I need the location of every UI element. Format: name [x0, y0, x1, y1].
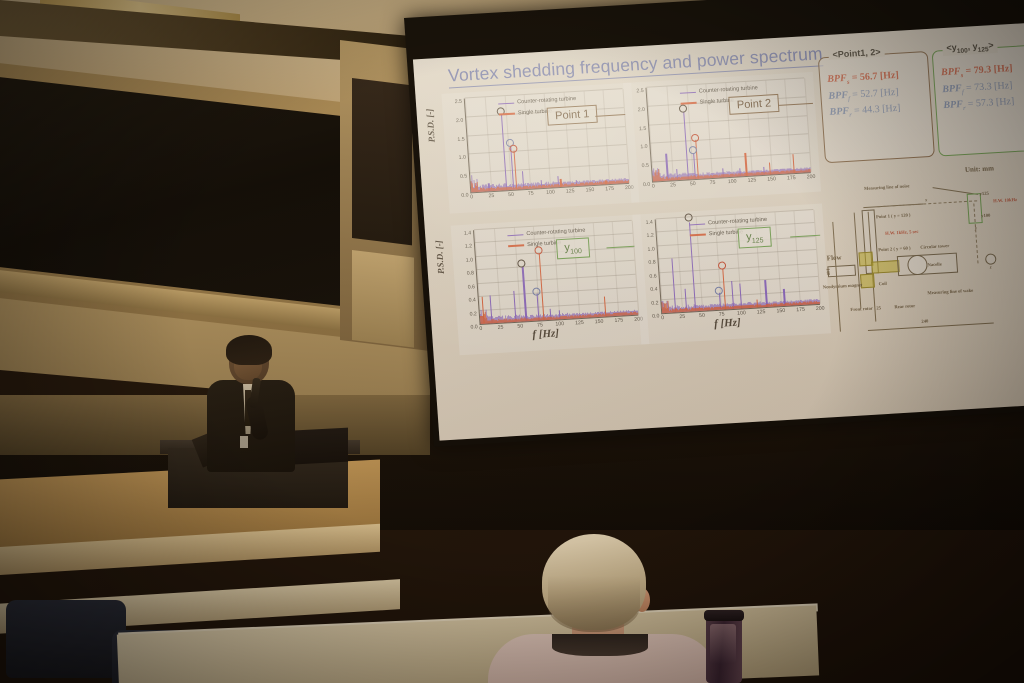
chart-point2: 0.00.51.01.52.02.50255075100125150175200…: [623, 72, 821, 203]
x-axis-tick: 0: [479, 326, 482, 332]
x-axis-tick: 125: [575, 320, 584, 326]
spectrum-peak: [605, 181, 607, 185]
schematic-dim-240: 240: [921, 318, 928, 323]
bpf-row-r: BPFr = 44.3 [Hz]: [829, 101, 931, 120]
schematic-label-point1: Point 1 ( y = 120 ): [876, 212, 911, 219]
chart-y125-xlabel: f [Hz]: [714, 317, 741, 331]
x-axis-tick: 50: [508, 192, 514, 198]
x-axis-tick: 25: [488, 193, 494, 199]
x-axis-tick: 0: [470, 194, 473, 200]
chart-y100-ylabel: P.S.D. [-]: [434, 240, 446, 274]
lecture-hall-photo: Vortex shedding frequency and power spec…: [0, 0, 1024, 683]
x-axis-tick: 125: [757, 309, 766, 315]
travel-mug-highlight: [710, 624, 736, 664]
vgridline: [484, 97, 492, 191]
bpf-row-s: BPFs = 79.3 [Hz]: [941, 61, 1024, 80]
schematic-label-y125: y125: [979, 191, 989, 197]
x-axis-tick: 0: [661, 315, 664, 321]
bpf-box-point12-title: <Point1, 2>: [828, 47, 885, 60]
legend-swatch-counter: [507, 234, 523, 237]
x-axis-tick: 175: [796, 307, 805, 313]
schematic-label-rear-rotor: Rear rotor: [894, 303, 915, 309]
x-axis-tick: 25: [679, 314, 685, 320]
spectrum-noise: [637, 312, 638, 314]
schematic-z-axis-marker: [985, 253, 997, 265]
presentation-slide: Vortex shedding frequency and power spec…: [413, 23, 1024, 441]
peak-marker: [714, 287, 723, 295]
chair-left: [6, 600, 126, 678]
bpf-row-f: BPFf = 52.7 [Hz]: [828, 84, 930, 103]
legend-swatch-counter: [498, 102, 514, 105]
schematic-label-y100: y100: [981, 213, 991, 219]
x-axis-tick: 25: [670, 182, 676, 188]
schematic-label-hw-1khz: H.W. 1kHz, 5 sec: [885, 229, 919, 236]
legend-swatch-single: [508, 244, 524, 247]
schematic-label-coil: Coil: [879, 281, 888, 286]
callout-point2: Point 2: [728, 94, 779, 115]
x-axis-tick: 50: [699, 313, 705, 319]
bpf-row-s: BPFs = 56.7 [Hz]: [827, 68, 929, 87]
schematic-label-measuring-noise: Measuring line of noise: [864, 183, 910, 191]
schematic-label-z: z: [990, 265, 992, 270]
travel-mug-lid: [704, 610, 744, 621]
x-axis-tick: 125: [566, 188, 575, 194]
schematic-label-x: x: [925, 197, 928, 202]
bpf-row-r: BPFr = 57.3 [Hz]: [943, 94, 1024, 113]
legend-swatch-single: [499, 113, 515, 116]
legend-swatch-counter: [680, 91, 696, 94]
audience-member: [496, 534, 716, 683]
door-glass-upper: [352, 78, 412, 245]
vgridline: [804, 78, 812, 172]
spectrum-noise: [819, 302, 820, 304]
x-axis-tick: 50: [690, 181, 696, 187]
spectrum-noise: [810, 169, 811, 172]
x-axis-tick: 25: [498, 325, 504, 331]
schematic-label-point2: Point 2 ( y = 60 ): [878, 245, 911, 252]
x-axis-tick: 175: [614, 318, 623, 324]
x-axis-tick: 75: [528, 191, 534, 197]
spectrum-peak: [560, 179, 562, 187]
chart-y100: P.S.D. [-] 0.00.20.40.60.81.01.21.402550…: [451, 214, 650, 355]
schematic-label-measuring-wake: Measuring line of wake: [927, 288, 973, 296]
bpf-row-f: BPFf = 73.3 [Hz]: [942, 77, 1024, 96]
spectrum-peak: [604, 296, 607, 316]
presenter: [205, 338, 297, 468]
x-axis-tick: 0: [652, 183, 655, 189]
x-axis-tick: 150: [767, 176, 776, 182]
spectrum-noise: [628, 180, 629, 183]
x-axis-tick: 175: [605, 186, 614, 192]
x-axis-tick: 75: [709, 180, 715, 186]
schematic-dim-line-240: [868, 323, 994, 331]
spectrum-peak: [756, 299, 758, 307]
experiment-schematic: Unit: mm Measuring line of noise x Point…: [814, 158, 1024, 363]
x-axis-tick: 100: [728, 179, 737, 185]
door-glass-lower: [352, 250, 414, 348]
chart-y100-xlabel: f [Hz]: [532, 327, 559, 341]
vgridline: [784, 79, 792, 173]
schematic-unit-label: Unit: mm: [965, 164, 994, 174]
audience-collar: [552, 634, 648, 656]
schematic-label-circular-tower: Circular tower: [920, 243, 949, 250]
blackboard-frame: [0, 62, 370, 340]
schematic-dim-25: 25: [876, 305, 881, 310]
legend-swatch-single: [681, 102, 697, 105]
audience-hair-shadow: [548, 576, 640, 632]
projection-screen: Vortex shedding frequency and power spec…: [404, 0, 1024, 447]
schematic-coil-body: [871, 260, 900, 274]
peak-marker: [532, 288, 541, 296]
schematic-label-hw-10khz: H.W. 10kHz: [993, 197, 1017, 203]
bpf-box-y100-y125-title: <y100, y125>: [942, 40, 998, 56]
presenter-badge: [240, 436, 248, 448]
callout-y125: y125: [738, 227, 773, 249]
spectrum-peak: [792, 154, 795, 173]
x-axis-tick: 100: [546, 189, 555, 195]
x-axis-tick: 150: [776, 308, 785, 314]
bpf-box-point12: <Point1, 2> BPFs = 56.7 [Hz] BPFf = 52.7…: [818, 51, 935, 163]
schematic-label-front-rotor: Front rotor: [850, 306, 873, 312]
schematic-label-nacelle: Nacelle: [927, 262, 942, 268]
chart-y125: 0.00.20.40.60.81.01.21.40255075100125150…: [632, 204, 831, 345]
schematic-label-magnet: Neodymium magnet: [823, 282, 863, 289]
vgridline: [603, 90, 611, 184]
x-axis-tick: 150: [585, 187, 594, 193]
schematic-flow-arrow: [827, 265, 856, 278]
presenter-hair: [226, 335, 272, 365]
schematic-dim-140: 140: [825, 268, 830, 275]
callout-point1: Point 1: [547, 105, 598, 126]
x-axis-tick: 175: [787, 175, 796, 181]
callout-y100: y100: [556, 237, 591, 259]
x-axis-tick: 50: [517, 323, 523, 329]
blackboard: [0, 76, 346, 306]
chart-point1-ylabel: P.S.D. [-]: [424, 108, 436, 142]
chart-point1: P.S.D. [-] 0.00.51.01.52.02.502550751001…: [441, 83, 639, 214]
bpf-box-y100-y125: <y100, y125> BPFs = 79.3 [Hz] BPFf = 73.…: [932, 44, 1024, 157]
x-axis-tick: 150: [595, 319, 604, 325]
legend-swatch-counter: [689, 223, 705, 226]
legend-swatch-single: [690, 234, 706, 237]
x-axis-tick: 125: [747, 177, 756, 183]
